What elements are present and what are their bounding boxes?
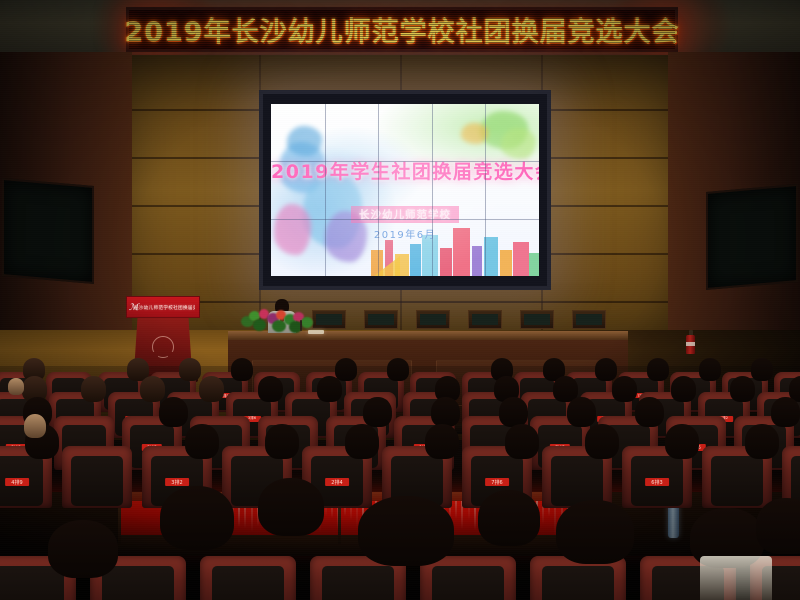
audience-member	[185, 424, 219, 459]
audience-member	[231, 358, 253, 380]
bottle-body	[668, 504, 679, 538]
seat-number-plate: 4排9	[5, 478, 29, 486]
auditorium-seat	[200, 556, 296, 600]
foreground-audience-head	[160, 486, 234, 550]
flower	[253, 319, 266, 331]
audience-member	[345, 424, 379, 459]
panel-seam	[378, 104, 379, 276]
stage-chair	[312, 310, 346, 329]
audience-member	[159, 397, 188, 427]
audience-member	[199, 376, 224, 402]
foreground-audience-head	[556, 500, 634, 564]
fire-extinguisher-label	[686, 342, 695, 346]
audience-member	[387, 358, 409, 380]
audience-member	[567, 397, 596, 427]
foreground-audience-head	[48, 520, 118, 578]
foreground-audience-head	[756, 498, 800, 554]
audience-member	[265, 424, 299, 459]
audience-member	[745, 424, 779, 459]
podium-banner: ℳ 长沙幼儿师范学校社团换届竞选大会	[126, 296, 200, 318]
audience-member	[699, 358, 721, 380]
audience-member	[671, 376, 696, 402]
audience-member	[317, 376, 342, 402]
audience-member	[595, 358, 617, 380]
audience-member	[425, 424, 459, 459]
audience-member	[612, 376, 637, 402]
document-on-table	[308, 330, 324, 334]
audience-member	[665, 424, 699, 459]
audience-face	[24, 414, 46, 438]
right-wall-display-panel	[706, 184, 798, 290]
seat-cushion	[551, 456, 603, 506]
podium-banner-text: 长沙幼儿师范学校社团换届竞选大会	[134, 303, 195, 313]
seat-number-plate: 6排3	[645, 478, 669, 486]
audience-member	[647, 358, 669, 380]
left-wall-display-panel	[2, 178, 94, 284]
audience-member	[751, 358, 773, 380]
audience-member	[363, 397, 392, 427]
light-streak	[455, 501, 457, 519]
auditorium-seat	[62, 446, 132, 508]
led-banner: 2019年长沙幼儿师范学校社团换届竞选大会	[126, 7, 678, 52]
video-wall-screen: 2019年学生社团换届竞选大会 长沙幼儿师范学校 2019年6月	[271, 104, 539, 276]
stage-chair-cushion	[524, 314, 550, 325]
audience-member	[585, 424, 619, 459]
audience-member	[431, 397, 460, 427]
stage-chair-cushion	[316, 314, 342, 325]
foreground-audience-head	[478, 490, 540, 546]
led-banner-text: 2019年长沙幼儿师范学校社团换届竞选大会	[129, 10, 675, 49]
microphone	[300, 320, 302, 331]
panel-seam	[325, 104, 326, 276]
stage-chair	[468, 310, 502, 329]
foreground-audience-head	[258, 478, 324, 536]
seat-cushion	[212, 566, 283, 600]
seat-cushion	[71, 456, 123, 506]
stage-chair-cushion	[420, 314, 446, 325]
seat-cushion	[322, 566, 393, 600]
audience-face	[8, 378, 24, 395]
panel-seam	[271, 219, 539, 220]
stage-chair	[416, 310, 450, 329]
audience-member	[635, 397, 664, 427]
stage-chair	[572, 310, 606, 329]
audience-member	[81, 376, 106, 402]
panel-seam	[485, 104, 486, 276]
audience-member	[335, 358, 357, 380]
audience-member	[258, 376, 283, 402]
audience-member	[179, 358, 201, 380]
flower	[301, 317, 313, 328]
audience-member	[499, 397, 528, 427]
stage-chair	[520, 310, 554, 329]
seat-cushion	[432, 566, 503, 600]
seat-number-plate: 3排2	[165, 478, 189, 486]
seat-cushion	[102, 566, 173, 600]
stage-chair-cushion	[472, 314, 498, 325]
auditorium-photo: 2019年长沙幼儿师范学校社团换届竞选大会 2019年学生社团换届竞选大会 长沙…	[0, 0, 800, 600]
video-wall: 2019年学生社团换届竞选大会 长沙幼儿师范学校 2019年6月	[259, 90, 551, 290]
audience-member	[140, 376, 165, 402]
audience-member	[771, 397, 800, 427]
flower	[272, 320, 286, 332]
seat-cushion	[542, 566, 613, 600]
seat-cushion	[711, 456, 763, 506]
audience-shirt	[700, 556, 772, 600]
video-wall-panel-seams	[271, 104, 539, 276]
seat-number-plate: 7排6	[485, 478, 509, 486]
fire-extinguisher	[686, 330, 695, 354]
audience-member	[730, 376, 755, 402]
stage-chair-cushion	[576, 314, 602, 325]
audience-member	[505, 424, 539, 459]
panel-seam	[432, 104, 433, 276]
seat-number-plate: 2排4	[325, 478, 349, 486]
panel-seam	[271, 161, 539, 162]
stage-chair	[364, 310, 398, 329]
foreground-audience-head	[358, 496, 454, 566]
stage-chair-cushion	[368, 314, 394, 325]
